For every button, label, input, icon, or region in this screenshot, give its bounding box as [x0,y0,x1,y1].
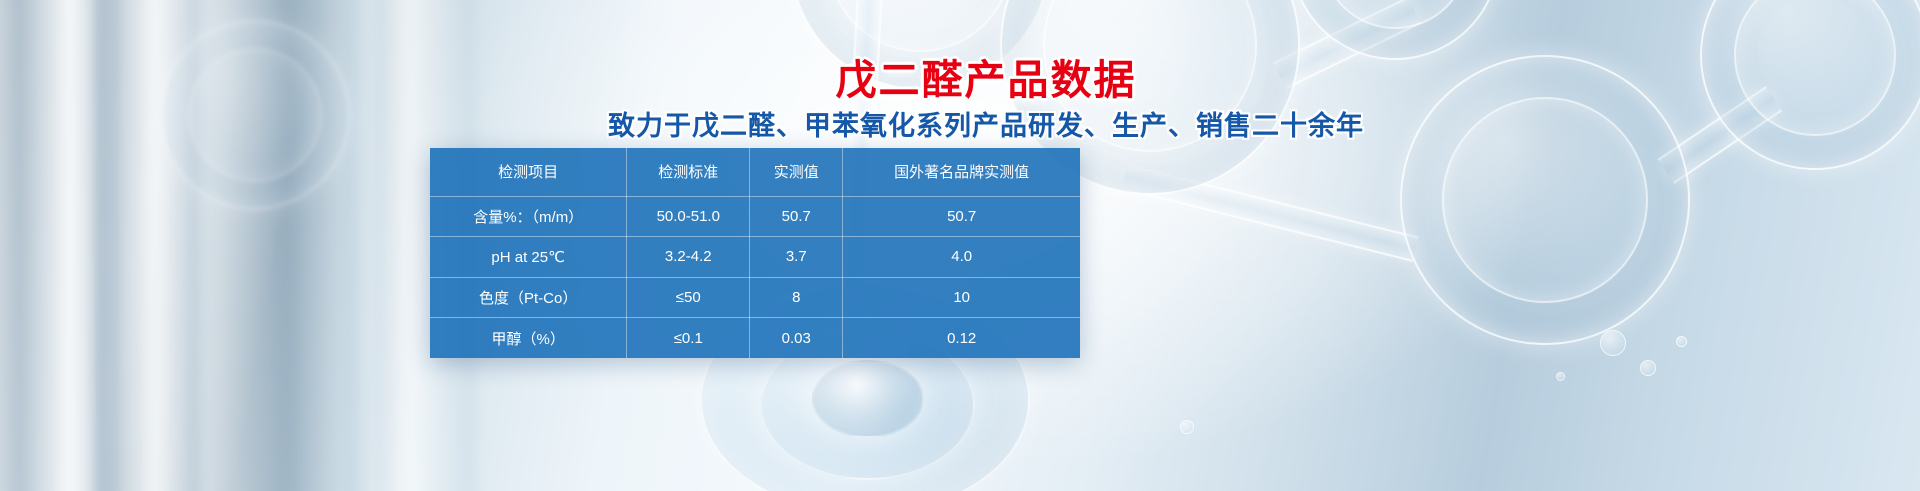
table-header-row: 检测项目 检测标准 实测值 国外著名品牌实测值 [430,148,1080,196]
cell-item: 含量%：（m/m） [430,196,627,237]
table-row: pH at 25℃ 3.2-4.2 3.7 4.0 [430,237,1080,278]
cell-item: 甲醇（%） [430,318,627,359]
cell-standard: ≤0.1 [627,318,750,359]
cell-standard: 3.2-4.2 [627,237,750,278]
cell-measured: 0.03 [750,318,843,359]
page-title: 戊二醛产品数据 [0,46,1920,106]
table-body: 含量%：（m/m） 50.0-51.0 50.7 50.7 pH at 25℃ … [430,196,1080,358]
cell-foreign: 10 [843,277,1080,318]
cell-measured: 50.7 [750,196,843,237]
cell-standard: ≤50 [627,277,750,318]
column-header-item: 检测项目 [430,148,627,196]
cell-item: 色度（Pt-Co） [430,277,627,318]
cell-measured: 8 [750,277,843,318]
page-subtitle: 致力于戊二醛、甲苯氧化系列产品研发、生产、销售二十余年 [0,104,1920,143]
cell-foreign: 0.12 [843,318,1080,359]
table-row: 甲醇（%） ≤0.1 0.03 0.12 [430,318,1080,359]
table-row: 含量%：（m/m） 50.0-51.0 50.7 50.7 [430,196,1080,237]
cell-foreign: 50.7 [843,196,1080,237]
spec-table: 检测项目 检测标准 实测值 国外著名品牌实测值 含量%：（m/m） 50.0-5… [430,148,1080,358]
cell-foreign: 4.0 [843,237,1080,278]
table-row: 色度（Pt-Co） ≤50 8 10 [430,277,1080,318]
cell-measured: 3.7 [750,237,843,278]
column-header-foreign: 国外著名品牌实测值 [843,148,1080,196]
product-data-table: 检测项目 检测标准 实测值 国外著名品牌实测值 含量%：（m/m） 50.0-5… [430,148,1080,358]
cell-item: pH at 25℃ [430,237,627,278]
cell-standard: 50.0-51.0 [627,196,750,237]
column-header-measured: 实测值 [750,148,843,196]
column-header-standard: 检测标准 [627,148,750,196]
